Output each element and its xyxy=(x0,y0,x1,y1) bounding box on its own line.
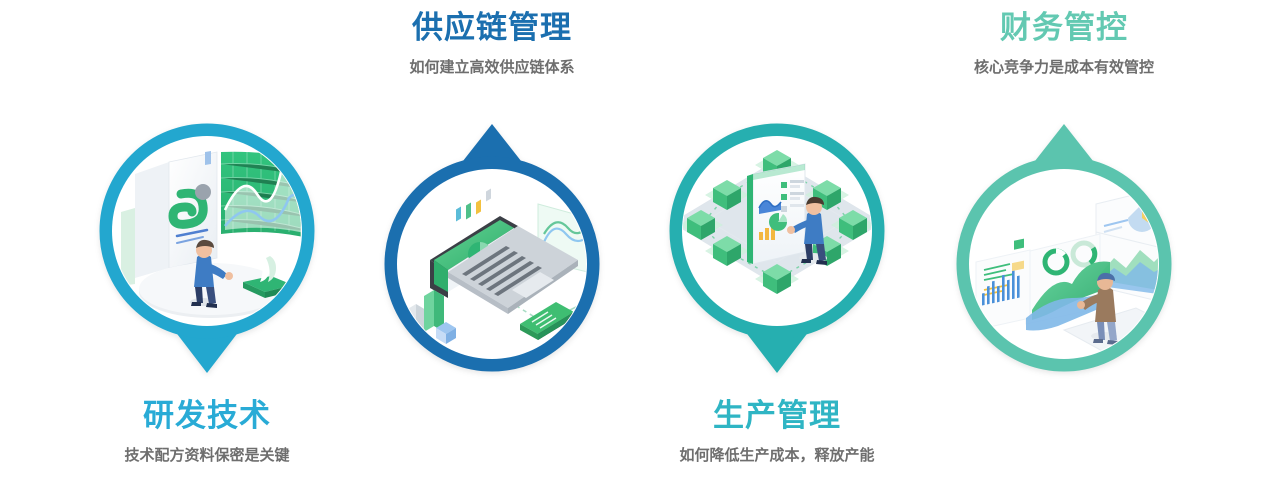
feature-item-supply-chain-management[interactable]: 供应链管理 如何建立高效供应链体系 xyxy=(342,0,642,488)
title-supply-chain-management: 供应链管理 xyxy=(342,8,642,48)
rd-lab-illustration-icon xyxy=(109,136,329,326)
title-production-management: 生产管理 xyxy=(627,396,927,436)
caption-supply-chain-management: 供应链管理 如何建立高效供应链体系 xyxy=(342,8,642,79)
subtitle-financial-control: 核心竞争力是成本有效管控 xyxy=(914,57,1214,79)
caption-rd-technology: 研发技术 技术配方资料保密是关键 xyxy=(57,396,357,467)
feature-item-financial-control[interactable]: 财务管控 核心竞争力是成本有效管控 xyxy=(914,0,1214,488)
feature-pins-board: 研发技术 技术配方资料保密是关键 供应链管理 如何建立高效供应链体系 xyxy=(0,0,1263,488)
pin-badge-production-management[interactable] xyxy=(627,116,927,386)
pin-badge-supply-chain-management[interactable] xyxy=(342,112,642,382)
subtitle-supply-chain-management: 如何建立高效供应链体系 xyxy=(342,57,642,79)
caption-production-management: 生产管理 如何降低生产成本，释放产能 xyxy=(627,396,927,467)
subtitle-production-management: 如何降低生产成本，释放产能 xyxy=(627,445,927,467)
laptop-analytics-illustration-icon xyxy=(397,170,614,360)
feature-item-rd-technology[interactable]: 研发技术 技术配方资料保密是关键 xyxy=(57,0,357,488)
title-financial-control: 财务管控 xyxy=(914,8,1214,48)
subtitle-rd-technology: 技术配方资料保密是关键 xyxy=(57,445,357,467)
caption-financial-control: 财务管控 核心竞争力是成本有效管控 xyxy=(914,8,1214,79)
feature-item-production-management[interactable]: 生产管理 如何降低生产成本，释放产能 xyxy=(627,0,927,488)
pin-badge-financial-control[interactable] xyxy=(914,112,1214,382)
pin-badge-rd-technology[interactable] xyxy=(57,116,357,386)
title-rd-technology: 研发技术 xyxy=(57,396,357,436)
